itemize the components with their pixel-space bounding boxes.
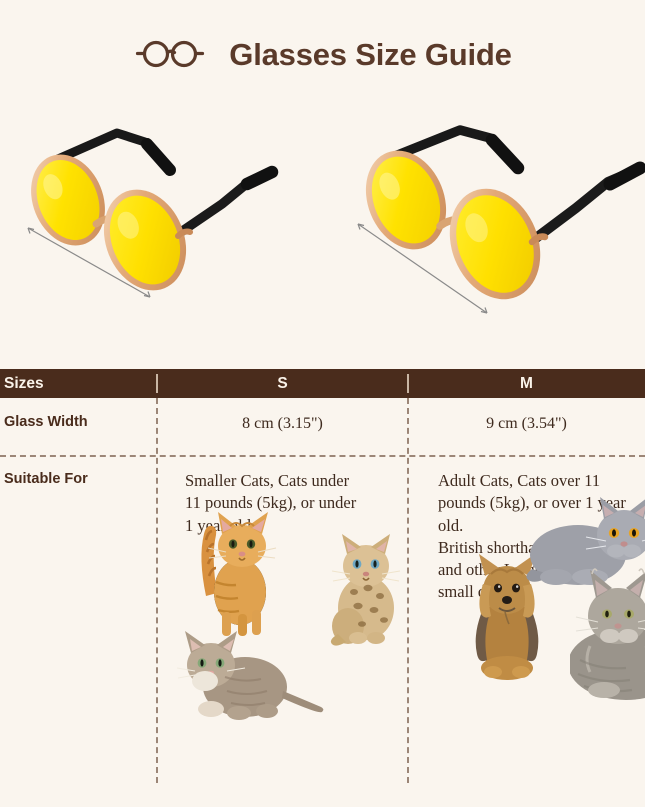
column-header-m: M <box>408 375 645 393</box>
column-header-s: S <box>157 375 408 393</box>
product-photo-medium: 9 cm (3.54") <box>340 108 645 338</box>
product-photo-small: 8 cm (3.15") <box>0 108 330 338</box>
suitable-m-line-2: pounds (5kg), or over 1 year <box>438 492 639 514</box>
column-divider-1 <box>156 398 158 783</box>
suitable-for-m-cell: Adult Cats, Cats over 11 pounds (5kg), o… <box>408 455 645 783</box>
row-label-glass-width: Glass Width <box>0 398 157 455</box>
suitable-for-s-text: Smaller Cats, Cats under 11 pounds (5kg)… <box>185 470 402 537</box>
table-row-suitable-for: Suitable For Smaller Cats, Cats under 11… <box>0 455 645 783</box>
column-header-sizes: Sizes <box>0 375 157 393</box>
page-header: Glasses Size Guide <box>0 24 645 84</box>
glasses-illustration-small <box>0 108 330 338</box>
suitable-m-line-6: small dogs <box>438 581 639 603</box>
glasses-illustration-medium <box>340 108 645 338</box>
suitable-s-line-3: 1 year old. <box>185 515 402 537</box>
table-row-glass-width: Glass Width 8 cm (3.15") 9 cm (3.54") <box>0 398 645 455</box>
round-glasses-icon <box>133 37 207 71</box>
suitable-s-line-1: Smaller Cats, Cats under <box>185 470 402 492</box>
column-divider-2 <box>407 398 409 783</box>
table-header-row: Sizes S M <box>0 369 645 398</box>
size-guide-page: Glasses Size Guide <box>0 0 645 807</box>
suitable-s-line-2: 11 pounds (5kg), or under <box>185 492 402 514</box>
page-title: Glasses Size Guide <box>229 39 511 70</box>
suitable-m-line-5: and other Large cats and <box>438 559 639 581</box>
suitable-for-s-cell: Smaller Cats, Cats under 11 pounds (5kg)… <box>157 455 408 783</box>
header-divider-2 <box>407 374 409 393</box>
glass-width-s-value: 8 cm (3.15") <box>157 398 408 455</box>
suitable-for-m-text: Adult Cats, Cats over 11 pounds (5kg), o… <box>438 470 639 604</box>
table-body: Glass Width 8 cm (3.15") 9 cm (3.54") Su… <box>0 398 645 783</box>
glass-width-m-value: 9 cm (3.54") <box>408 398 645 455</box>
suitable-m-line-4: British shorthair, Maine Co <box>438 537 639 559</box>
size-table: Sizes S M Glass Width 8 cm (3.15") 9 cm … <box>0 369 645 783</box>
row-label-suitable-for: Suitable For <box>0 455 157 783</box>
suitable-m-line-3: old. <box>438 515 639 537</box>
header-divider-1 <box>156 374 158 393</box>
suitable-m-line-1: Adult Cats, Cats over 11 <box>438 470 639 492</box>
